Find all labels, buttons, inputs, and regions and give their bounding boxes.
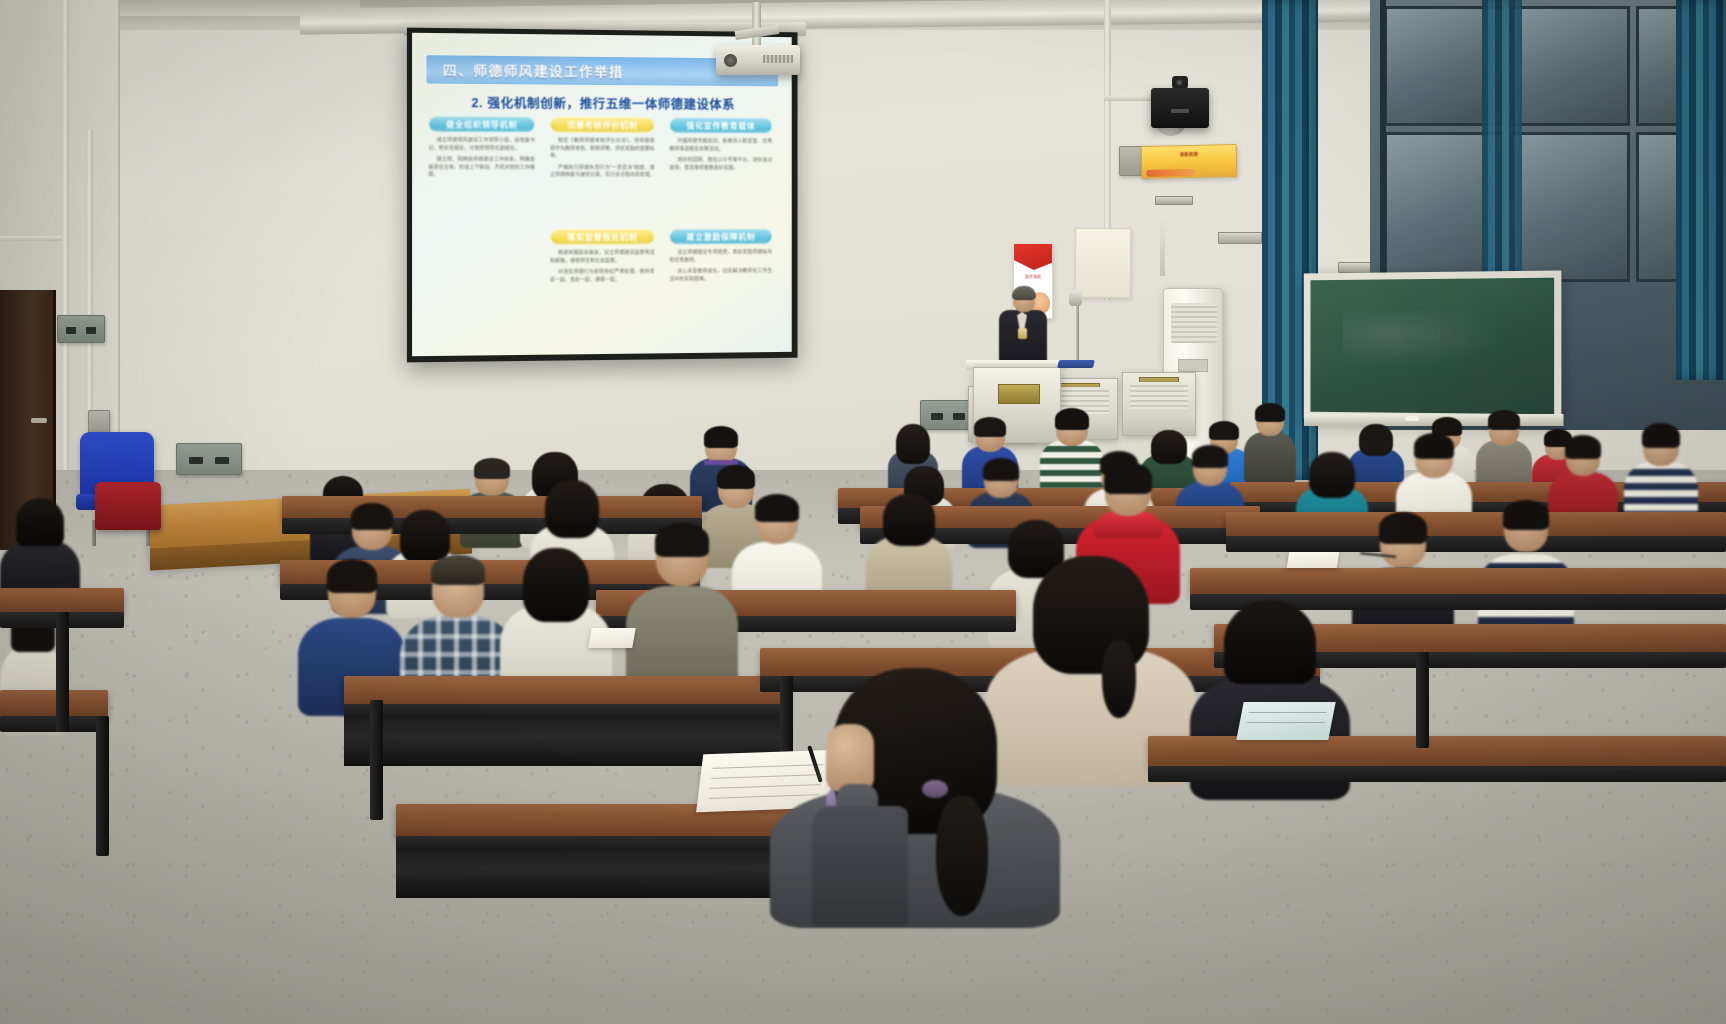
slide-box-5-para-1: 设立师德建设专项经费，表彰奖励师德标兵和优秀教师。 xyxy=(669,249,772,264)
chalkboard-smudge xyxy=(1343,311,1508,371)
wall-pipe-1 xyxy=(62,0,69,470)
person-c3-hair xyxy=(983,458,1019,481)
desk-row-c3 xyxy=(1190,568,1726,596)
slide-box-4-para-1: 畅通举报投诉渠道，设立师德建设监督电话和邮箱，接受师生和社会监督。 xyxy=(550,250,655,265)
slide-box-5: 建立激励保障机制 设立师德建设专项经费，表彰奖励师德标兵和优秀教师。 关心关爱教… xyxy=(669,229,772,288)
paper-sheet-mid[interactable] xyxy=(588,628,636,648)
person-e9-hair xyxy=(1503,500,1549,530)
desk-row-b3 xyxy=(1226,512,1726,538)
presenter-badge-icon xyxy=(1018,328,1027,339)
slide-box-1-header: 健全组织领导机制 xyxy=(428,116,534,133)
equipment-cabinet-3 xyxy=(1122,372,1196,436)
desk-row-left-1-top xyxy=(0,588,124,614)
plaque-ribbon-icon xyxy=(1146,169,1196,177)
desk-leg-1 xyxy=(370,700,383,820)
person-b2-hair xyxy=(974,417,1006,437)
microphone-stand xyxy=(1076,300,1079,362)
projector-lens-icon xyxy=(724,54,737,67)
desk-row-e2 xyxy=(1148,736,1726,768)
window-mullion-1 xyxy=(1380,0,1386,300)
chalk-piece-icon xyxy=(1405,416,1419,421)
ac-control-panel[interactable] xyxy=(1178,359,1208,372)
person-f4-torso xyxy=(626,586,738,688)
slide-box-2: 完善考核评价机制 制定《教师师德考核评价办法》，将师德表现作为教师考核、职称评聘… xyxy=(550,117,655,184)
desk-row-b3-top xyxy=(1226,512,1726,538)
poster-banner-icon xyxy=(1014,244,1052,270)
slide-box-5-body: 设立师德建设专项经费，表彰奖励师德标兵和优秀教师。 关心关爱教师成长，切实解决教… xyxy=(669,249,772,283)
desk-row-c3-top xyxy=(1190,568,1726,596)
audience-person-f4 xyxy=(626,530,738,688)
desk-leg-3 xyxy=(1416,652,1429,748)
person-e2-hair xyxy=(400,510,450,564)
person-c7-hair xyxy=(1414,433,1454,459)
slide-box-4: 落实监督惩处机制 畅通举报投诉渠道，设立师德建设监督电话和邮箱，接受师生和社会监… xyxy=(550,229,655,288)
audience-person-b6 xyxy=(1244,406,1296,484)
person-e3-hair xyxy=(545,480,599,538)
slide-box-3-para-2: 用好校园网、微信公众号等平台，讲好身边故事，营造尊师重教良好氛围。 xyxy=(669,157,772,172)
wall-award-plaque: 表彰奖牌 xyxy=(1141,144,1238,179)
ceiling-projector xyxy=(716,45,800,75)
desk-leg-left-1 xyxy=(56,612,69,732)
slide-box-2-para-1: 制定《教师师德考核评价办法》，将师德表现作为教师考核、职称评聘、评优奖励的首要标… xyxy=(550,138,655,161)
slide-box-1-body: 成立师德师风建设工作领导小组，由党委书记、校长任组长，分管校领导任副组长。 建立… xyxy=(428,137,534,179)
wall-red-poster-text: 宣传海报 xyxy=(1018,274,1048,280)
microphone-icon xyxy=(1069,290,1082,306)
desk-row-left-2-edge xyxy=(0,716,108,732)
slide-box-5-header: 建立激励保障机制 xyxy=(669,229,772,245)
slide-box-1-para-1: 成立师德师风建设工作领导小组，由党委书记、校长任组长，分管校领导任副组长。 xyxy=(428,137,534,153)
person-h1-ponytail xyxy=(936,796,988,916)
slide-box-3: 强化宣传教育载体 开展师德专题培训、新教师入职宣誓、优秀教师事迹报告会等活动。 … xyxy=(669,117,772,176)
red-chair[interactable] xyxy=(95,482,161,530)
desk-row-left-1 xyxy=(0,588,124,614)
person-i1-hair xyxy=(16,498,64,546)
person-g2-hair xyxy=(1224,600,1316,684)
person-d2-hair xyxy=(474,458,510,479)
person-h1-shoulder-bag xyxy=(812,806,908,926)
slide-box-3-body: 开展师德专题培训、新教师入职宣誓、优秀教师事迹报告会等活动。 用好校园网、微信公… xyxy=(669,138,772,172)
slide-subtitle: 2. 强化机制创新，推行五维一体师德建设体系 xyxy=(412,92,792,114)
person-e5-hair xyxy=(883,494,935,546)
presenter-person xyxy=(993,288,1051,370)
person-c6-hair xyxy=(1309,452,1355,498)
ac-grille xyxy=(1171,303,1217,343)
person-g1-ponytail xyxy=(1102,640,1136,718)
person-b5-hair xyxy=(1209,421,1239,440)
desk-row-b3-edge xyxy=(1226,536,1726,552)
person-c8-hair xyxy=(1565,435,1601,459)
wall-outlet-2[interactable] xyxy=(176,443,242,475)
lectern-nameplate xyxy=(998,384,1040,404)
slide-box-2-para-2: 严格执行师德失范行为“一票否决”制度，建立师德档案与诚信记录，实行全过程动态管理… xyxy=(550,164,655,179)
person-b9-hair xyxy=(1488,410,1520,430)
cabinet-vent-3 xyxy=(1130,382,1188,409)
desk-row-e2-top xyxy=(1148,736,1726,768)
person-h1-hair-tie-icon xyxy=(922,780,948,798)
slide-box-2-header: 完善考核评价机制 xyxy=(550,117,655,134)
wall-award-plaque-text: 表彰奖牌 xyxy=(1149,151,1229,159)
lecture-hall-photo: 四、师德师风建设工作举措 2. 强化机制创新，推行五维一体师德建设体系 健全组织… xyxy=(0,0,1726,1024)
person-b6-hair xyxy=(1255,403,1285,422)
person-b6-torso xyxy=(1244,432,1296,484)
person-e8-hair xyxy=(1379,512,1427,544)
person-b1-hair xyxy=(896,424,930,464)
window-pane-5 xyxy=(1510,132,1630,282)
person-c5-hair xyxy=(1192,445,1228,468)
slide-box-1: 健全组织领导机制 成立师德师风建设工作领导小组，由党委书记、校长任组长，分管校领… xyxy=(428,116,534,183)
projector-mount-pole xyxy=(752,2,761,46)
slide-box-4-para-2: 对违反师德行为依规依纪严肃处理，做到发现一起、查处一起、通报一起。 xyxy=(550,269,655,285)
wall-sign-3 xyxy=(1218,232,1262,244)
lectern-laptop[interactable] xyxy=(1057,360,1095,368)
projector-vent xyxy=(763,55,793,63)
person-d5-hair xyxy=(717,465,755,489)
person-h1-raised-hand xyxy=(826,724,874,792)
window-curtain-right[interactable] xyxy=(1676,0,1726,380)
wall-conduit-3 xyxy=(1160,216,1165,276)
desk-row-left-2 xyxy=(0,690,108,718)
person-f4-hair xyxy=(655,523,709,557)
presentation-slide: 四、师德师风建设工作举措 2. 强化机制创新，推行五维一体师德建设体系 健全组织… xyxy=(412,33,792,356)
person-e7-hair xyxy=(1104,462,1152,494)
person-c1-hair xyxy=(704,426,738,448)
slide-section-title: 四、师德师风建设工作举措 xyxy=(443,59,624,81)
desk-row-d-top xyxy=(344,676,784,706)
slide-box-2-body: 制定《教师师德考核评价办法》，将师德表现作为教师考核、职称评聘、评优奖励的首要标… xyxy=(550,138,655,180)
door-handle[interactable] xyxy=(31,418,47,423)
slide-content-grid: 健全组织领导机制 成立师德师风建设工作领导小组，由党委书记、校长任组长，分管校领… xyxy=(428,116,776,344)
presenter-hair xyxy=(1012,286,1036,299)
person-e4-hair xyxy=(755,494,799,522)
handout-line-1 xyxy=(1249,712,1327,713)
wall-mounted-monitor xyxy=(1151,88,1209,128)
green-chalkboard xyxy=(1304,270,1562,421)
window-curtain-mid[interactable] xyxy=(1482,0,1522,300)
paper-sheet-right[interactable] xyxy=(1287,552,1340,568)
slide-box-1-para-2: 建立校、院两级师德建设工作体系，明确各级责任主体，形成上下联动、齐抓共管的工作格… xyxy=(428,157,534,180)
person-f2-hair xyxy=(431,555,485,585)
slide-box-4-body: 畅通举报投诉渠道，设立师德建设监督电话和邮箱，接受师生和社会监督。 对违反师德行… xyxy=(550,250,655,285)
slide-box-5-para-2: 关心关爱教师成长，切实解决教师在工作生活中的实际困难。 xyxy=(669,268,772,283)
slide-box-4-header: 落实监督惩处机制 xyxy=(550,229,655,245)
handout-line-2 xyxy=(1247,722,1325,723)
presenter-glasses-icon xyxy=(1015,299,1033,303)
slide-box-3-para-1: 开展师德专题培训、新教师入职宣誓、优秀教师事迹报告会等活动。 xyxy=(669,138,772,153)
person-b3-hair xyxy=(1055,408,1089,430)
desk-row-e2-edge xyxy=(1148,766,1726,782)
person-c9-hair xyxy=(1642,423,1680,448)
person-f1-hair xyxy=(327,559,377,593)
monitor-brand-mark xyxy=(1171,109,1189,113)
person-f3-hair xyxy=(523,548,589,622)
handout-paper-right[interactable] xyxy=(1236,702,1335,740)
wall-conduit-1 xyxy=(0,236,62,241)
wall-outlet-1[interactable] xyxy=(57,315,105,343)
slide-box-3-header: 强化宣传教育载体 xyxy=(669,117,772,133)
desk-row-d xyxy=(344,676,784,706)
projection-screen: 四、师德师风建设工作举措 2. 强化机制创新，推行五维一体师德建设体系 健全组织… xyxy=(407,28,798,363)
window-pane-2 xyxy=(1510,6,1630,126)
wall-notice-poster xyxy=(1075,228,1132,299)
wall-sign-1 xyxy=(1155,196,1193,205)
desk-leg-left-2 xyxy=(96,716,109,856)
desk-row-left-2-top xyxy=(0,690,108,718)
